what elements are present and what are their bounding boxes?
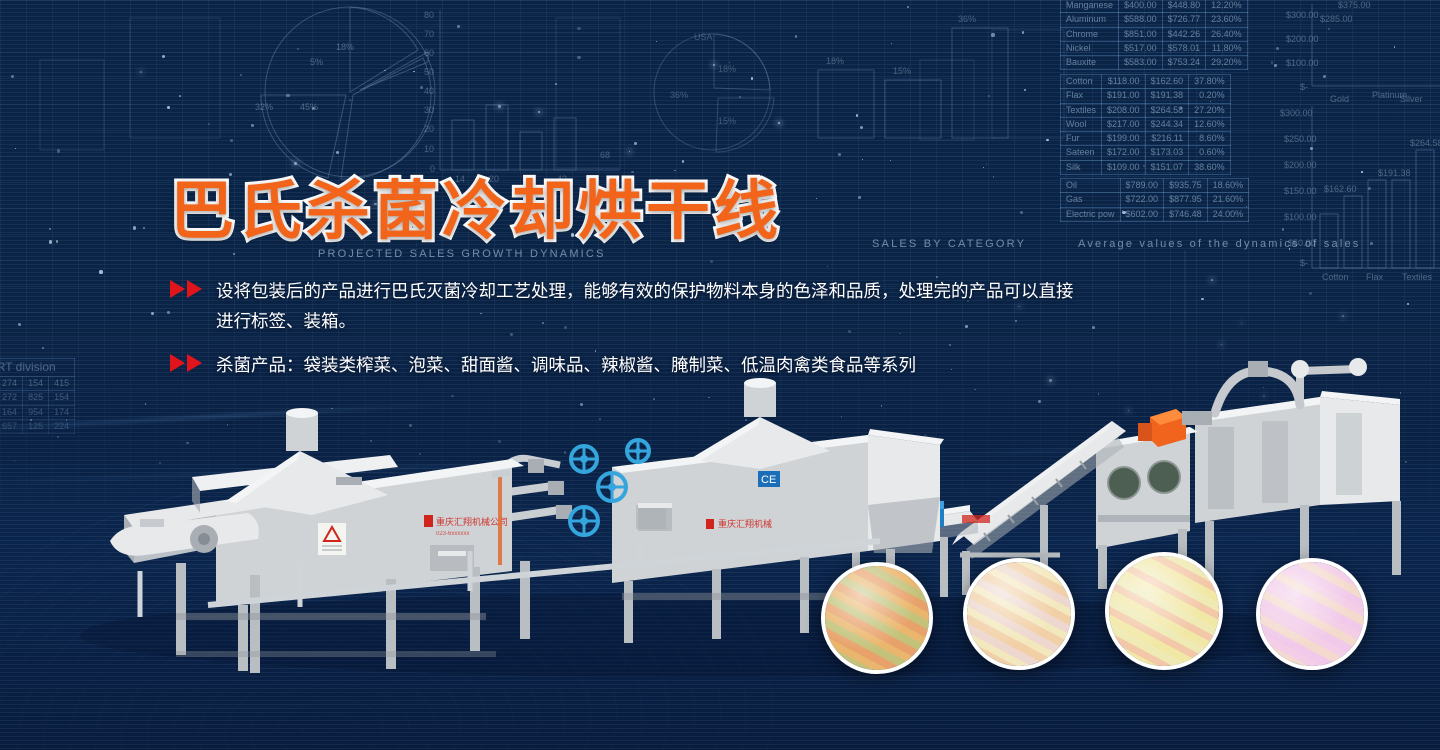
bullet-text: 杀菌产品：袋装类榨菜、泡菜、甜面酱、调味品、辣椒酱、腌制菜、低温肉禽类食品等系列 <box>216 350 916 380</box>
page-title: 巴氏杀菌冷却烘干线 <box>170 160 782 252</box>
bullet-text: 设将包装后的产品进行巴氏灭菌冷却工艺处理，能够有效的保护物料本身的色泽和品质，处… <box>216 276 1081 336</box>
product-assorted-candy-packets: 什锦糖果 <box>1256 558 1368 670</box>
list-item: 设将包装后的产品进行巴氏灭菌冷却工艺处理，能够有效的保护物料本身的色泽和品质，处… <box>170 276 1250 336</box>
product-photo <box>1109 556 1219 666</box>
svg-text:023-6xxxxxx: 023-6xxxxxx <box>436 531 469 537</box>
double-chevron-right-icon <box>170 280 204 303</box>
double-chevron-right-icon <box>170 354 204 377</box>
product-photo <box>1260 562 1364 666</box>
product-bagged-pickled-vegetable: 袋装榨菜 <box>821 562 933 674</box>
svg-text:重庆汇翔机械公司: 重庆汇翔机械公司 <box>436 516 508 527</box>
promo-banner: 18% 45% 32% 5% 80 70 60 50 40 30 20 <box>0 0 1440 750</box>
list-item: 杀菌产品：袋装类榨菜、泡菜、甜面酱、调味品、辣椒酱、腌制菜、低温肉禽类食品等系列 <box>170 350 1250 380</box>
product-photo <box>825 566 929 670</box>
product-laotan-suancai: 老坛酸菜 <box>963 558 1075 670</box>
product-spicy-pickled-vegetables: 五香榨菜 Spicy Pickled Vegetables <box>1105 552 1223 670</box>
feature-bullet-list: 设将包装后的产品进行巴氏灭菌冷却工艺处理，能够有效的保护物料本身的色泽和品质，处… <box>170 276 1250 394</box>
svg-text:CE: CE <box>761 474 776 486</box>
svg-text:重庆汇翔机械: 重庆汇翔机械 <box>718 518 772 529</box>
product-photo <box>967 562 1071 666</box>
machine-illustration: CE 重庆汇翔机械 <box>0 355 1440 695</box>
